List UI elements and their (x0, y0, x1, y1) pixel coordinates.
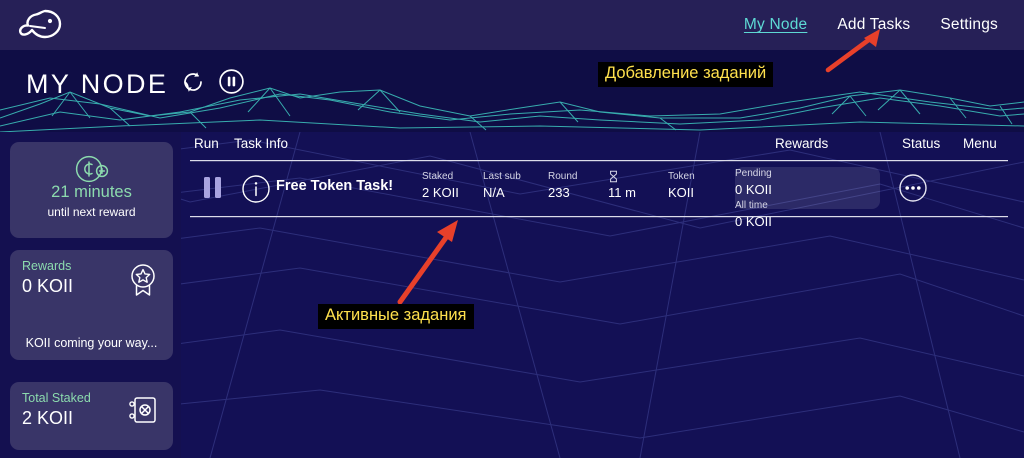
task-field-round: Round 233 (548, 170, 577, 202)
annotation-active-tasks: Активные задания (318, 304, 474, 329)
column-header-rewards: Rewards (775, 136, 828, 151)
rewards-card-footer: KOII coming your way... (10, 336, 173, 350)
rewards-panel: Pending 0 KOII All time 0 KOII (735, 167, 880, 209)
round-value: 233 (548, 184, 577, 202)
task-field-last-sub: Last sub N/A (483, 170, 521, 202)
pause-circle-icon[interactable] (218, 68, 245, 100)
info-circle-icon[interactable] (241, 174, 271, 209)
app-root: MY NODE (0, 0, 1024, 458)
last-sub-label: Last sub (483, 170, 521, 184)
hourglass-icon (608, 170, 636, 184)
last-sub-value: N/A (483, 184, 521, 202)
pending-label: Pending (735, 167, 880, 181)
nav-link-my-node[interactable]: My Node (744, 16, 807, 34)
total-staked-card: Total Staked 2 KOII (10, 382, 173, 450)
table-divider-bottom (190, 216, 1008, 217)
all-time-value: 0 KOII (735, 213, 880, 231)
page-title-group: MY NODE (26, 68, 245, 100)
nav-link-settings[interactable]: Settings (940, 16, 998, 34)
next-reward-timer-card: 21 minutes until next reward (10, 142, 173, 238)
task-field-token: Token KOII (668, 170, 695, 202)
timer-subtitle: until next reward (10, 205, 173, 219)
ellipsis-circle-icon[interactable] (898, 173, 928, 208)
timer-value: 21 minutes (10, 183, 173, 202)
table-row: Free Token Task! Staked 2 KOII Last sub … (190, 161, 1008, 216)
task-field-time: 11 m (608, 170, 636, 202)
task-name[interactable]: Free Token Task! (276, 178, 393, 194)
staked-card-label: Total Staked (22, 391, 91, 405)
all-time-label: All time (735, 199, 880, 213)
column-header-menu: Menu (963, 136, 997, 151)
token-value: KOII (668, 184, 695, 202)
rewards-card-label: Rewards (22, 259, 71, 273)
column-header-task-info: Task Info (234, 136, 288, 151)
reward-field-all-time: All time 0 KOII (735, 199, 880, 231)
star-badge-icon (127, 262, 159, 303)
refresh-icon[interactable] (180, 69, 206, 100)
rewards-card: Rewards 0 KOII KOII coming your way... (10, 250, 173, 360)
task-field-staked: Staked 2 KOII (422, 170, 459, 202)
annotation-arrow-add-tasks (824, 26, 888, 74)
annotation-arrow-active-tasks (392, 212, 468, 308)
reward-field-pending: Pending 0 KOII (735, 167, 880, 199)
pause-icon[interactable] (204, 177, 221, 198)
staked-label: Staked (422, 170, 459, 184)
staked-value: 2 KOII (422, 184, 459, 202)
annotation-add-tasks: Добавление заданий (598, 62, 773, 87)
rewards-card-value: 0 KOII (22, 276, 73, 297)
round-label: Round (548, 170, 577, 184)
pause-bar-left (204, 177, 210, 198)
page-title: MY NODE (26, 69, 168, 100)
staked-card-value: 2 KOII (22, 408, 73, 429)
pending-value: 0 KOII (735, 181, 880, 199)
column-header-run: Run (194, 136, 219, 151)
task-table: Run Task Info Rewards Status Menu Free T… (190, 132, 1008, 217)
token-label: Token (668, 170, 695, 184)
node-chip-icon (127, 394, 159, 431)
column-header-status: Status (902, 136, 940, 151)
pause-bar-right (215, 177, 221, 198)
koii-fish-logo-icon[interactable] (18, 4, 64, 46)
time-value: 11 m (608, 184, 636, 202)
task-table-header: Run Task Info Rewards Status Menu (190, 132, 1008, 160)
left-sidebar: 21 minutes until next reward Rewards 0 K… (0, 132, 181, 458)
